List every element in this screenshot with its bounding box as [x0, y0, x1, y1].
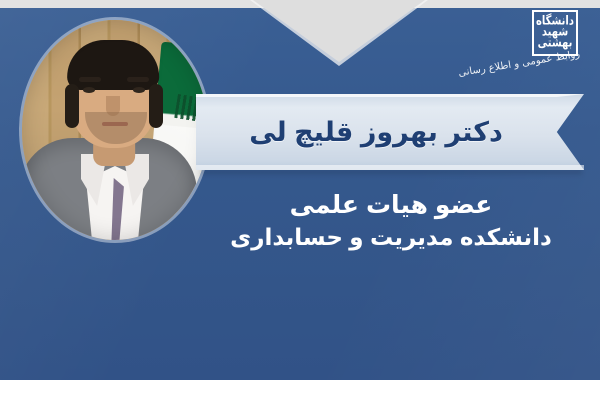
- public-relations-script: روابط عمومی و اطلاع رسانی: [486, 49, 584, 93]
- bottom-white-margin: [0, 380, 600, 400]
- person-hair: [67, 40, 159, 90]
- person-nose: [106, 96, 120, 116]
- person-eye-right: [133, 87, 145, 93]
- department-title: دانشکده مدیریت و حسابداری: [200, 223, 582, 252]
- person-hair-side-left: [65, 84, 79, 128]
- person-eyebrow-left: [79, 77, 101, 82]
- person-eye-left: [83, 87, 95, 93]
- ribbon-shadow: [200, 170, 582, 176]
- university-logo: دانشگاه شهید بهشتی روابط عمومی و اطلاع ر…: [488, 6, 584, 88]
- person-mouth: [102, 122, 128, 126]
- person-eyebrow-right: [127, 77, 149, 82]
- role-title: عضو هیات علمی: [200, 190, 582, 221]
- page-title: دکتر بهروز قلیچ لی: [196, 94, 556, 170]
- logo-line-3: بهشتی: [538, 38, 573, 51]
- subtitle-block: عضو هیات علمی دانشکده مدیریت و حسابداری: [200, 190, 582, 251]
- person-hair-side-right: [149, 84, 163, 128]
- profile-banner: دکتر بهروز قلیچ لی عضو هیات علمی دانشکده…: [0, 0, 600, 400]
- avatar: [22, 20, 208, 240]
